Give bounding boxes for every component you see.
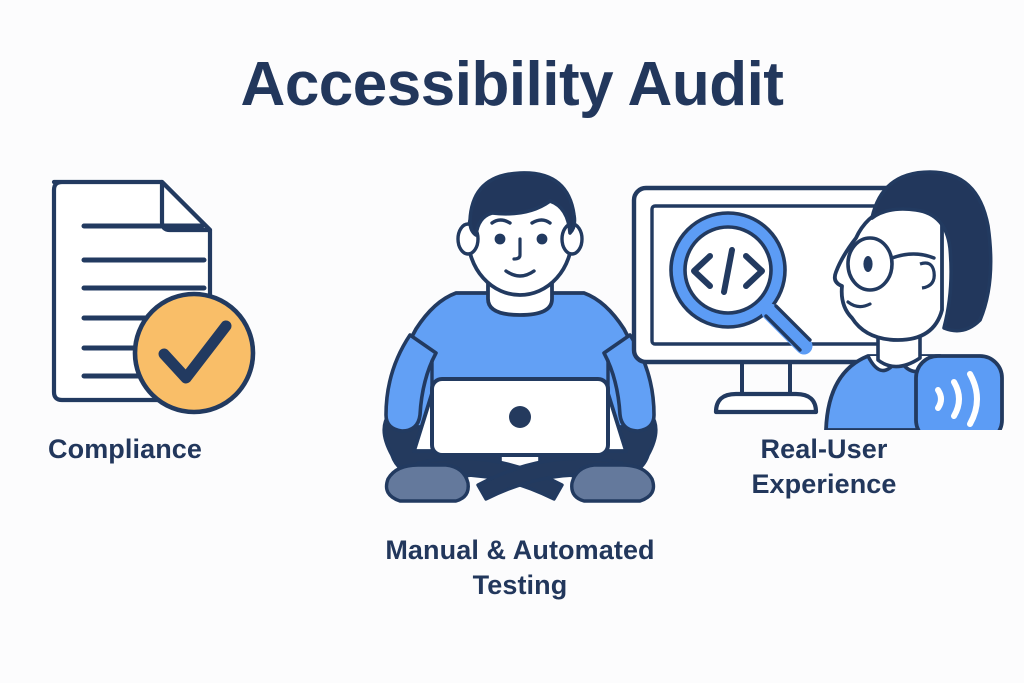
column-compliance: Compliance: [14, 160, 314, 425]
caption-line: Manual & Automated: [300, 533, 740, 568]
woman-ear: [920, 263, 934, 288]
page-title: Accessibility Audit: [0, 52, 1024, 117]
caption-compliance: Compliance: [48, 432, 308, 467]
document-check-svg: [14, 160, 314, 420]
woman-eye: [863, 256, 872, 272]
caption-realuser: Real-User Experience: [684, 432, 964, 501]
right-shoe: [572, 465, 654, 501]
monitor-person-svg: [620, 160, 1020, 430]
caption-line: Real-User: [684, 432, 964, 467]
right-eye: [537, 234, 548, 245]
caption-line: Compliance: [48, 432, 308, 467]
monitor-stand: [742, 362, 790, 392]
caption-line: Experience: [684, 467, 964, 502]
left-eye: [495, 234, 506, 245]
check-circle-badge: [135, 294, 253, 412]
infographic-canvas: Accessibility Audit: [0, 0, 1024, 683]
left-shoe: [387, 465, 469, 501]
laptop-logo: [509, 406, 531, 428]
caption-testing: Manual & Automated Testing: [300, 533, 740, 602]
monitor-code-inspection-with-person-icon: [620, 160, 1020, 435]
column-realuser: Real-User Experience: [620, 160, 1020, 435]
folded-corner: [162, 182, 210, 230]
document-check-icon: [14, 160, 314, 425]
caption-line: Testing: [300, 568, 740, 603]
monitor-base: [716, 394, 816, 412]
